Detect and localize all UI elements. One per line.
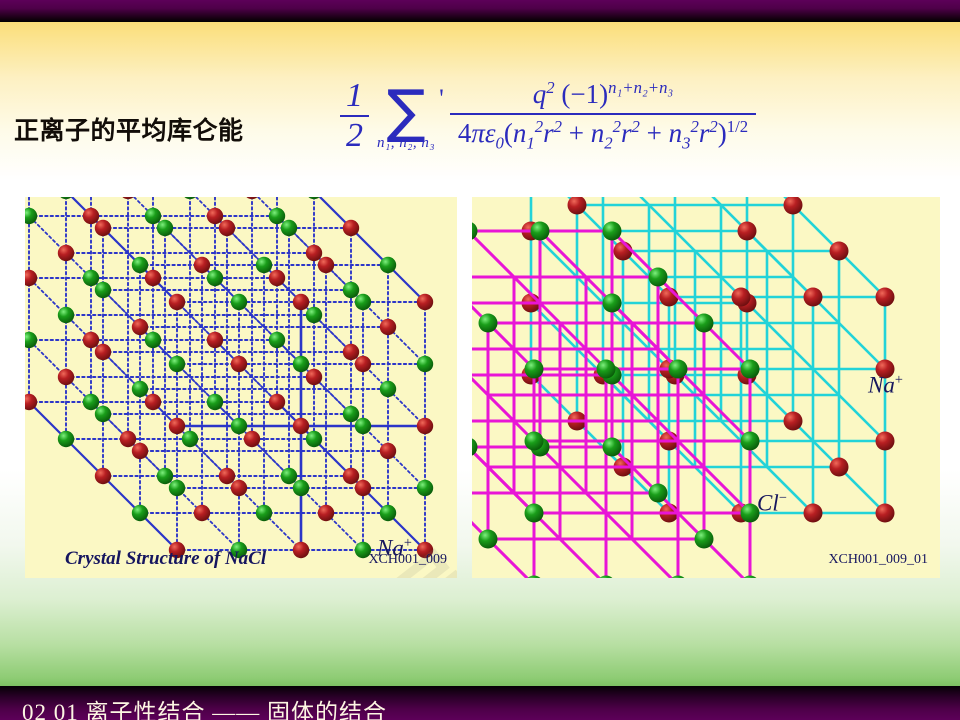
formula-r3-sup: 2	[709, 117, 717, 136]
nacl-sublattice-image-right: Na+ Cl− XCH001_009_01	[472, 197, 940, 578]
formula-r2: r	[621, 118, 632, 148]
formula-denominator: 4πε0(n12r2 + n22r2 + n32r2)1/2	[450, 115, 756, 153]
formula-r1-sup: 2	[554, 117, 562, 136]
top-decoration-bar	[0, 0, 960, 22]
formula-four: 4	[458, 118, 472, 148]
formula-r2-sup: 2	[632, 117, 640, 136]
panel-left-code: XCH001_009	[368, 552, 447, 568]
formula-sigma-subscript: n₁, n₂, n₃	[377, 135, 435, 152]
formula-power-half: 1/2	[727, 117, 748, 136]
footer-text: 02 01 离子性结合 —— 固体的结合	[22, 693, 387, 720]
panel-left-caption: Crystal Structure of NaCl	[65, 548, 266, 570]
formula-plus-2: +	[647, 118, 662, 148]
formula-n3-sub: 3	[682, 133, 690, 152]
formula-n1-sub: 1	[526, 133, 534, 152]
nacl-lattice-image-left: 绘员水印 Na+ Cl− Crystal Structure of NaCl X…	[25, 197, 457, 578]
label-na-charge: +	[404, 535, 412, 551]
formula-exponent-sum: n₁+n₂+n₃	[608, 78, 673, 97]
formula-n3: n	[669, 118, 683, 148]
page-title: 正离子的平均库仑能	[14, 111, 244, 147]
slide-canvas: 正离子的平均库仑能 1 2 ∑ n₁, n₂, n₃ ' q2 (−1)n₁+n…	[0, 0, 960, 720]
formula-numerator: q2 (−1)n₁+n₂+n₃	[525, 78, 681, 113]
heading-row: 正离子的平均库仑能 1 2 ∑ n₁, n₂, n₃ ' q2 (−1)n₁+n…	[0, 30, 960, 180]
label-chloride-ion-right: Cl−	[757, 490, 787, 517]
panel-right-code: XCH001_009_01	[828, 552, 928, 568]
formula-half-numerator: 1	[340, 78, 369, 115]
formula-q-exponent: 2	[546, 78, 554, 97]
formula-n2-sub: 2	[604, 133, 612, 152]
sigma-icon: ∑	[387, 87, 426, 137]
formula-half-denominator: 2	[340, 117, 369, 154]
formula-n3-sup: 2	[691, 117, 699, 136]
formula-open-paren: (	[504, 118, 513, 148]
formula-prime-mark: '	[439, 84, 444, 114]
label-na-text-right: Na	[868, 373, 895, 398]
formula-close-paren: )	[718, 118, 727, 148]
formula-minus-one: (−1)	[561, 79, 608, 109]
formula-epsilon-subscript: 0	[496, 133, 504, 152]
label-na-charge-right: +	[895, 372, 903, 388]
formula-epsilon: ε	[485, 118, 496, 148]
formula-r1: r	[543, 118, 554, 148]
label-sodium-ion-right: Na+	[868, 372, 903, 399]
formula-one-half: 1 2	[340, 78, 369, 153]
formula-n2: n	[591, 118, 605, 148]
formula-n2-sup: 2	[613, 117, 621, 136]
coulomb-energy-formula: 1 2 ∑ n₁, n₂, n₃ ' q2 (−1)n₁+n₂+n₃ 4πε0(…	[340, 78, 756, 153]
formula-summation: ∑ n₁, n₂, n₃	[377, 87, 435, 152]
formula-plus-1: +	[569, 118, 584, 148]
formula-n1: n	[513, 118, 527, 148]
formula-pi: π	[471, 118, 485, 148]
formula-q: q	[533, 79, 547, 109]
label-cl-charge-right: −	[779, 490, 787, 506]
label-cl-text-right: Cl	[757, 491, 779, 516]
formula-n1-sup: 2	[535, 117, 543, 136]
nacl-lattice-svg	[25, 197, 457, 578]
formula-r3: r	[699, 118, 710, 148]
formula-main-fraction: q2 (−1)n₁+n₂+n₃ 4πε0(n12r2 + n22r2 + n32…	[450, 78, 756, 153]
